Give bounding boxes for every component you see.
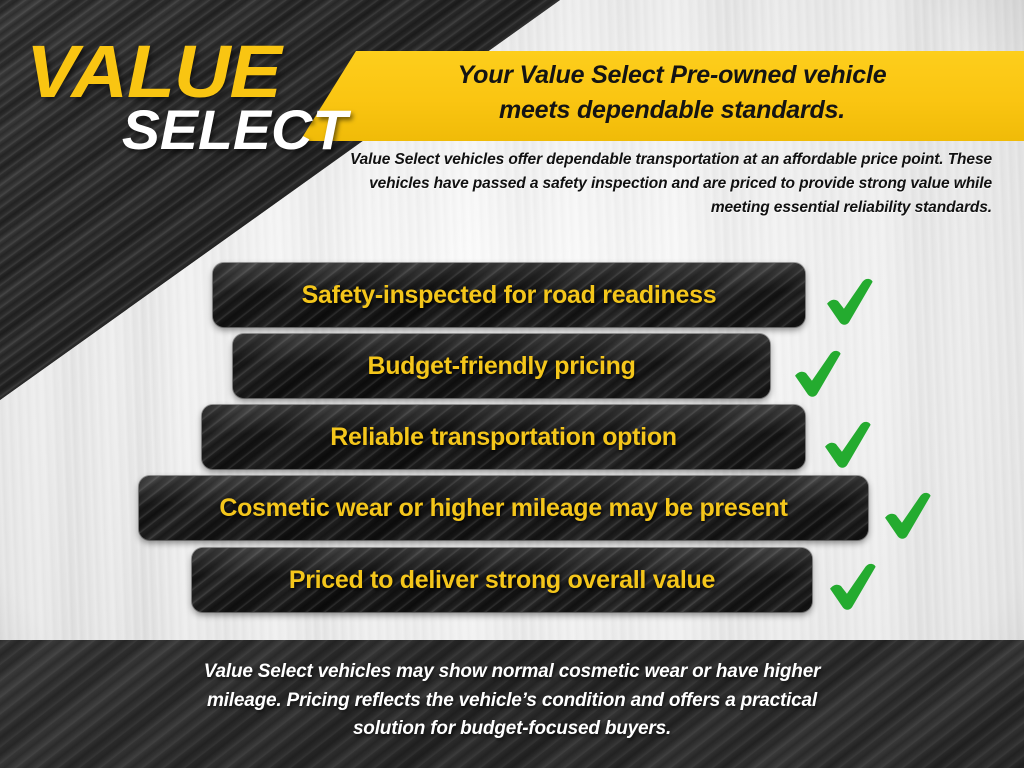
feature-bar-label: Cosmetic wear or higher mileage may be p… (203, 494, 803, 523)
feature-bar-label: Safety-inspected for road readiness (286, 281, 733, 310)
headline-line-1: Your Value Select Pre-owned vehicle (330, 58, 1014, 93)
feature-bar-label: Budget-friendly pricing (351, 352, 651, 381)
check-icon (825, 560, 879, 614)
feature-bar-label: Reliable transportation option (314, 423, 693, 452)
footer-band: Value Select vehicles may show normal co… (0, 640, 1024, 768)
footer-line-1: Value Select vehicles may show normal co… (72, 658, 952, 687)
headline-line-2: meets dependable standards. (330, 93, 1014, 128)
footer-text: Value Select vehicles may show normal co… (72, 658, 952, 744)
feature-bar[interactable]: Priced to deliver strong overall value (192, 548, 812, 612)
headline-text: Your Value Select Pre-owned vehicle meet… (330, 58, 1014, 127)
footer-line-2: mileage. Pricing reflects the vehicle’s … (72, 687, 952, 716)
value-select-banner: VALUE SELECT Your Value Select Pre-owned… (0, 0, 1024, 768)
footer-line-3: solution for budget-focused buyers. (72, 715, 952, 744)
feature-bar-label: Priced to deliver strong overall value (273, 566, 731, 595)
